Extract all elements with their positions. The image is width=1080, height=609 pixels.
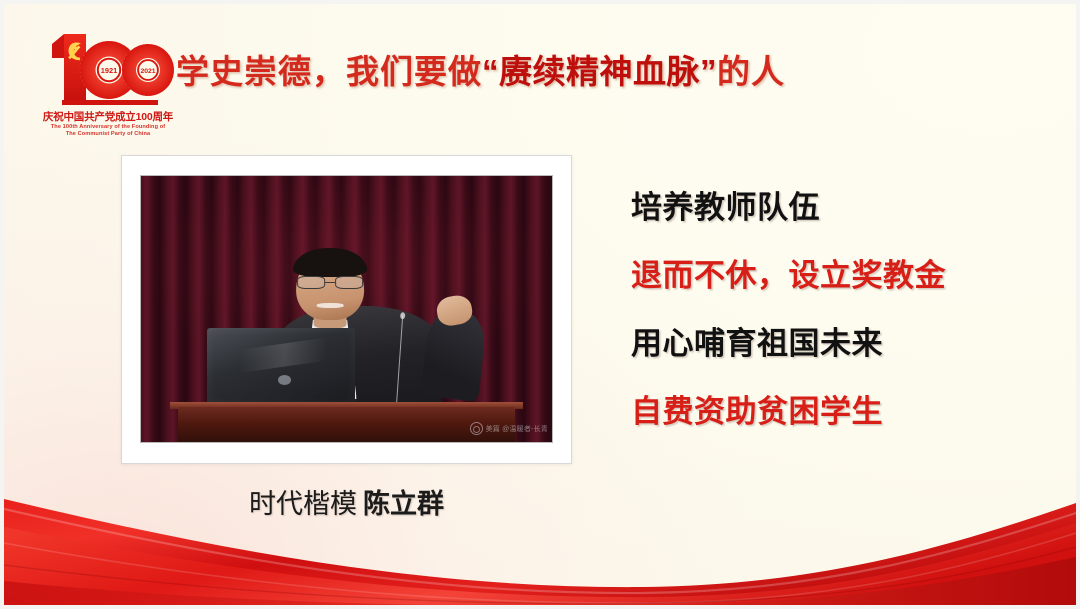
emblem-en-caption-line1: The 100th Anniversary of the Founding of: [38, 124, 178, 131]
speaker-mouth: [317, 303, 344, 308]
watermark-logo-icon: [470, 422, 483, 435]
slide-title-quoted: “赓续精神血脉”: [482, 45, 717, 93]
podium-laptop: [207, 328, 355, 405]
speaker-photo: 美篇 @温暖者-长青: [140, 175, 553, 443]
watermark-text: 美篇 @温暖者-长青: [486, 424, 548, 434]
key-point-2: 退而不休，设立奖教金: [631, 260, 1031, 291]
emblem-en-caption: The 100th Anniversary of the Founding of…: [38, 124, 178, 138]
photo-watermark: 美篇 @温暖者-长青: [470, 422, 548, 435]
glasses-lens-left: [297, 276, 325, 289]
photo-frame: 美篇 @温暖者-长青: [121, 155, 572, 464]
slide-title-part-1: 学史崇德，我们要做: [176, 45, 482, 93]
caption-person-name: 陈立群: [363, 489, 444, 519]
slide-canvas: 1921 2021 庆祝中国共产党成立100周年 The 100th Anniv…: [4, 4, 1076, 605]
emblem-en-caption-line2: The Communist Party of China: [38, 131, 178, 138]
podium: [178, 407, 515, 442]
glasses-lens-right: [335, 276, 363, 289]
emblem-cn-caption: 庆祝中国共产党成立100周年: [38, 112, 178, 123]
key-point-3: 用心哺育祖国未来: [631, 328, 1031, 359]
glasses-bridge: [325, 282, 336, 283]
caption-prefix: 时代楷模: [249, 489, 357, 519]
slide-title: 学史崇德，我们要做“赓续精神血脉”的人: [176, 44, 785, 94]
key-point-1: 培养教师队伍: [631, 192, 1031, 223]
speaker-glasses: [297, 276, 363, 289]
emblem-graphic: 1921 2021: [38, 26, 178, 114]
photo-caption: 时代楷模陈立群: [121, 482, 572, 521]
key-point-4: 自费资助贫困学生: [631, 396, 1031, 427]
emblem-year-left: 1921: [101, 66, 117, 75]
cpc-anniversary-emblem: 1921 2021 庆祝中国共产党成立100周年 The 100th Anniv…: [38, 26, 178, 130]
slide-title-part-2: 的人: [717, 45, 785, 93]
presentation-slide: 1921 2021 庆祝中国共产党成立100周年 The 100th Anniv…: [0, 0, 1080, 609]
key-points-list: 培养教师队伍 退而不休，设立奖教金 用心哺育祖国未来 自费资助贫困学生: [631, 192, 1031, 427]
emblem-year-right: 2021: [140, 68, 155, 75]
